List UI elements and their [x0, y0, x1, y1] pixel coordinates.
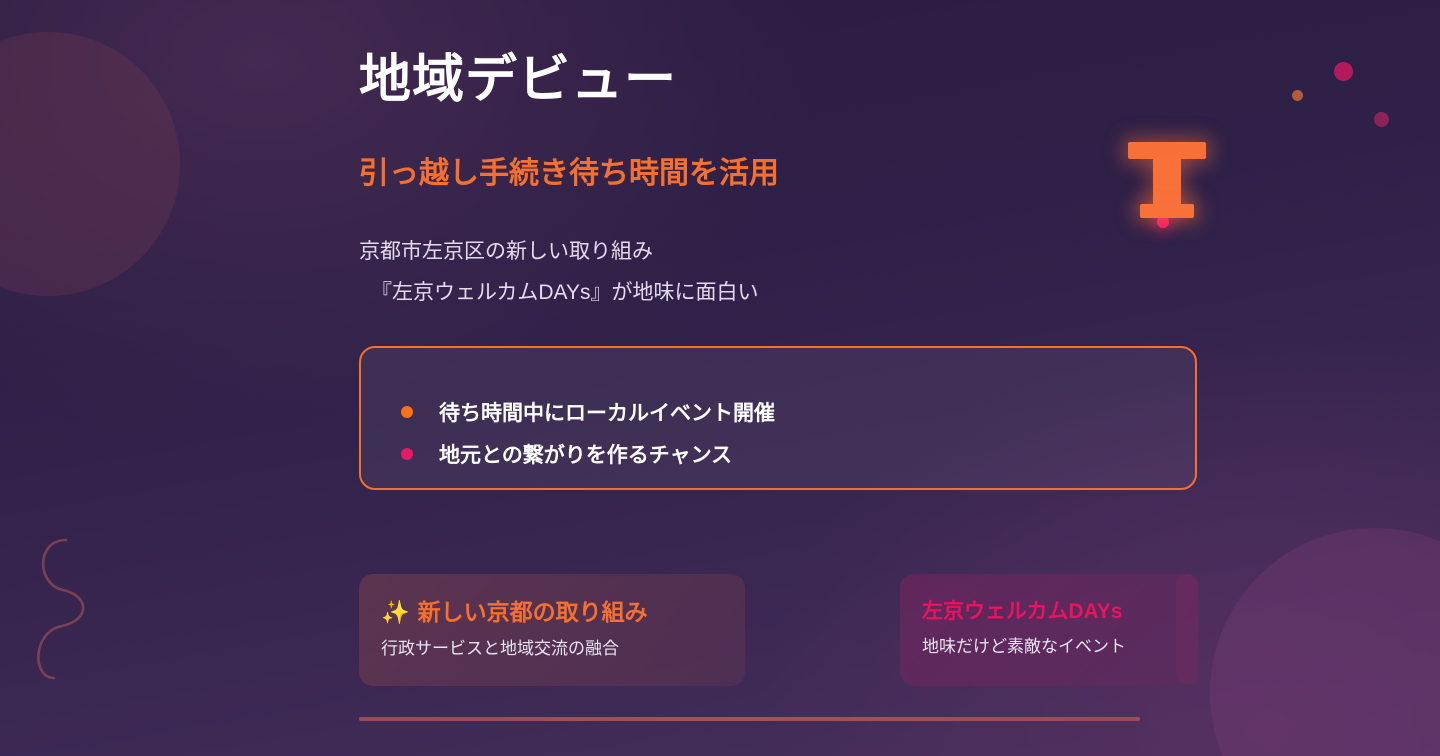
highlight-bullet-list: 待ち時間中にローカルイベント開催 地元との繋がりを作るチャンス — [361, 348, 1195, 475]
dot-pink-glow-icon — [1157, 216, 1169, 228]
dot-rust-icon — [1292, 90, 1303, 101]
body-line-1: 京都市左京区の新しい取り組み — [359, 232, 759, 273]
page-subtitle: 引っ越し手続き待ち時間を活用 — [359, 155, 779, 193]
sparkles-icon: ✨ — [381, 599, 410, 625]
card-row: ✨新しい京都の取り組み 行政サービスと地域交流の融合 左京ウェルカムDAYs 地… — [359, 574, 1200, 686]
bullet-label: 待ち時間中にローカルイベント開催 — [439, 397, 775, 427]
dot-crimson-icon — [1334, 62, 1353, 81]
highlight-box: 待ち時間中にローカルイベント開催 地元との繋がりを作るチャンス — [359, 346, 1197, 490]
info-card-welcome-days: 左京ウェルカムDAYs 地味だけど素敵なイベント — [900, 574, 1200, 686]
card-title-text: 新しい京都の取り組み — [418, 599, 648, 625]
slide-canvas: 地域デビュー 引っ越し手続き待ち時間を活用 京都市左京区の新しい取り組み 『左京… — [0, 0, 1440, 756]
body-paragraph: 京都市左京区の新しい取り組み 『左京ウェルカムDAYs』が地味に面白い — [359, 232, 759, 314]
card-title: 左京ウェルカムDAYs — [922, 600, 1178, 623]
card-title: ✨新しい京都の取り組み — [381, 600, 723, 625]
s-curve-line-icon — [8, 512, 168, 712]
bullet-label: 地元との繋がりを作るチャンス — [439, 439, 732, 469]
bottom-divider — [359, 717, 1140, 721]
body-line-2: 『左京ウェルカムDAYs』が地味に面白い — [359, 273, 759, 314]
torii-mark-icon — [1128, 142, 1206, 220]
background-blob-bottom-right — [1210, 528, 1440, 756]
dot-plum-icon — [1374, 112, 1389, 127]
card-description: 地味だけど素敵なイベント — [922, 637, 1178, 657]
list-item: 待ち時間中にローカルイベント開催 — [401, 391, 1195, 433]
bullet-dot-icon — [401, 406, 413, 418]
background-blob-top-left — [0, 32, 180, 296]
card-description: 行政サービスと地域交流の融合 — [381, 639, 723, 659]
list-item: 地元との繋がりを作るチャンス — [401, 433, 1195, 475]
bullet-dot-icon — [401, 448, 413, 460]
page-title: 地域デビュー — [359, 50, 677, 111]
info-card-new-initiative: ✨新しい京都の取り組み 行政サービスと地域交流の融合 — [359, 574, 745, 686]
